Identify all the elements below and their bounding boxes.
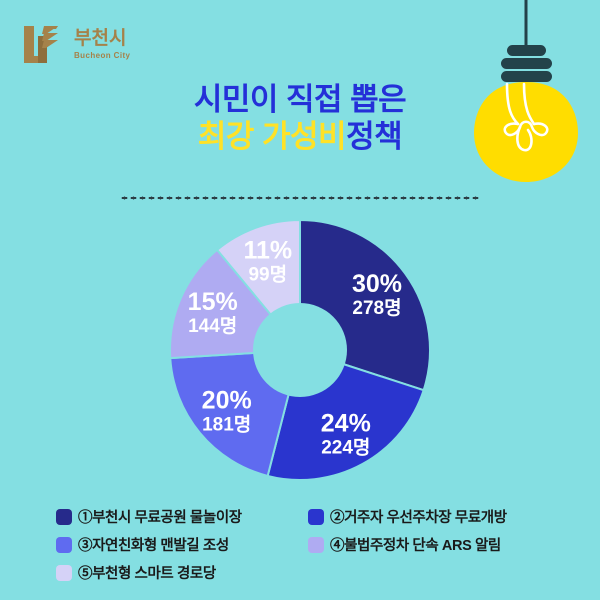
legend-label-3: ③자연친화형 맨발길 조성: [78, 534, 229, 555]
slice-percent-label: 15%: [188, 288, 238, 316]
legend-item-1[interactable]: ①부천시 무료공원 물놀이장: [56, 506, 308, 527]
slice-percent-label: 11%: [243, 237, 292, 265]
legend-item-2[interactable]: ②거주자 우선주차장 무료개방: [308, 506, 507, 527]
legend-label-1: ①부천시 무료공원 물놀이장: [78, 506, 242, 527]
legend-label-5: ⑤부천형 스마트 경로당: [78, 562, 216, 583]
legend-item-5[interactable]: ⑤부천형 스마트 경로당: [56, 562, 308, 583]
legend-item-4[interactable]: ④불법주정차 단속 ARS 알림: [308, 534, 501, 555]
legend-swatch-4: [308, 537, 324, 553]
title-line-2: 최강 가성비정책: [0, 119, 600, 156]
bucheon-logo-icon: [18, 22, 66, 66]
slice-count-label: 99명: [248, 264, 287, 286]
title-highlight: 최강 가성비: [198, 119, 346, 154]
bucheon-city-logo: 부천시 Bucheon City: [18, 22, 130, 66]
logo-name-en: Bucheon City: [74, 52, 130, 60]
slice-count-label: 144명: [188, 315, 237, 337]
donut-hole: [253, 303, 347, 397]
chart-legend: ①부천시 무료공원 물놀이장 ②거주자 우선주차장 무료개방 ③자연친화형 맨발…: [56, 506, 556, 590]
slice-percent-label: 30%: [352, 270, 402, 298]
slice-count-label: 224명: [321, 436, 370, 458]
title-line-1: 시민이 직접 뽑은: [0, 82, 600, 119]
page-title: 시민이 직접 뽑은 최강 가성비정책: [0, 82, 600, 155]
legend-label-4: ④불법주정차 단속 ARS 알림: [330, 534, 501, 555]
legend-swatch-1: [56, 509, 72, 525]
donut-chart-svg: 30%278명24%224명20%181명15%144명11%99명: [170, 220, 430, 480]
legend-item-3[interactable]: ③자연친화형 맨발길 조성: [56, 534, 308, 555]
dotted-divider: [120, 196, 480, 200]
logo-name-ko: 부천시: [74, 29, 130, 48]
slice-count-label: 181명: [202, 414, 251, 436]
legend-swatch-3: [56, 537, 72, 553]
infographic-canvas: 부천시 Bucheon City 시민이 직접 뽑은 최강 가성비정책 30%2…: [0, 0, 600, 600]
legend-label-2: ②거주자 우선주차장 무료개방: [330, 506, 507, 527]
logo-text-block: 부천시 Bucheon City: [74, 29, 130, 60]
legend-swatch-2: [308, 509, 324, 525]
donut-chart: 30%278명24%224명20%181명15%144명11%99명: [170, 220, 430, 480]
slice-count-label: 278명: [352, 297, 401, 319]
legend-row: ③자연친화형 맨발길 조성 ④불법주정차 단속 ARS 알림: [56, 534, 556, 556]
legend-swatch-5: [56, 565, 72, 581]
slice-percent-label: 20%: [202, 387, 252, 415]
legend-row: ①부천시 무료공원 물놀이장 ②거주자 우선주차장 무료개방: [56, 506, 556, 528]
legend-row: ⑤부천형 스마트 경로당: [56, 562, 556, 584]
slice-percent-label: 24%: [321, 409, 371, 437]
title-rest: 정책: [346, 119, 402, 154]
